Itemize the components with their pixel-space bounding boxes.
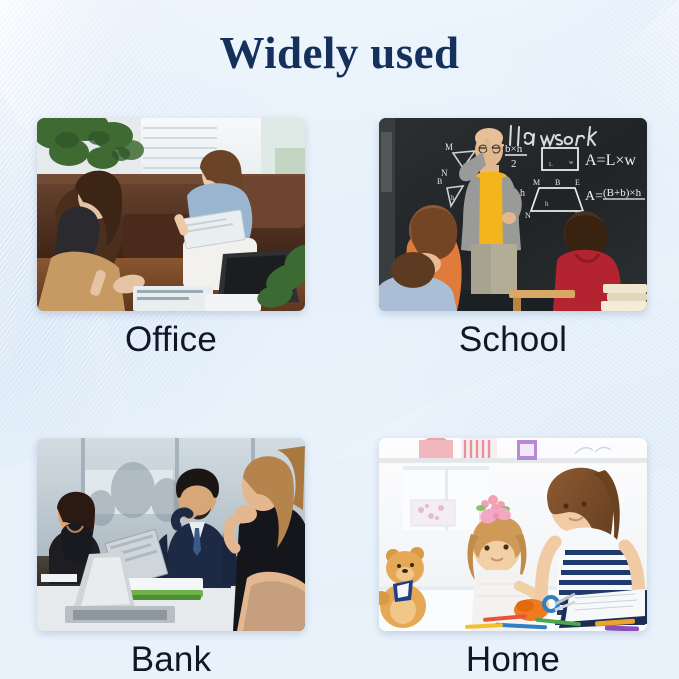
use-case-row-top: Office bbox=[37, 118, 647, 360]
use-case-card-school: M N B E h = b×h bbox=[379, 118, 647, 360]
use-case-grid: Office bbox=[37, 118, 647, 679]
svg-text:M: M bbox=[533, 178, 540, 187]
use-case-card-home: Home bbox=[379, 438, 647, 679]
use-case-card-office: Office bbox=[37, 118, 305, 360]
svg-text:(B+b)×h: (B+b)×h bbox=[603, 187, 642, 199]
svg-text:h: h bbox=[545, 200, 549, 208]
caption-school: School bbox=[379, 320, 647, 360]
svg-text:w: w bbox=[569, 160, 574, 166]
svg-text:L: L bbox=[549, 162, 553, 168]
page-title: Widely used bbox=[0, 27, 679, 79]
caption-bank: Bank bbox=[37, 640, 305, 679]
use-case-row-bottom: Bank bbox=[37, 438, 647, 679]
svg-text:B: B bbox=[555, 178, 560, 187]
svg-text:N: N bbox=[525, 211, 531, 220]
svg-text:A=: A= bbox=[585, 189, 603, 204]
svg-text:b×h: b×h bbox=[505, 143, 523, 155]
use-case-card-bank: Bank bbox=[37, 438, 305, 679]
svg-text:B: B bbox=[437, 177, 442, 186]
svg-text:2: 2 bbox=[511, 158, 517, 170]
svg-text:M: M bbox=[445, 142, 453, 152]
svg-text:E: E bbox=[575, 178, 580, 187]
poster-canvas: Widely used bbox=[0, 0, 679, 679]
bank-photo bbox=[37, 438, 305, 631]
school-photo: M N B E h = b×h bbox=[379, 118, 647, 311]
home-photo bbox=[379, 438, 647, 631]
caption-home: Home bbox=[379, 640, 647, 679]
svg-text:A=L×w: A=L×w bbox=[585, 152, 636, 169]
caption-office: Office bbox=[37, 320, 305, 360]
svg-text:h: h bbox=[451, 194, 455, 202]
office-photo bbox=[37, 118, 305, 311]
